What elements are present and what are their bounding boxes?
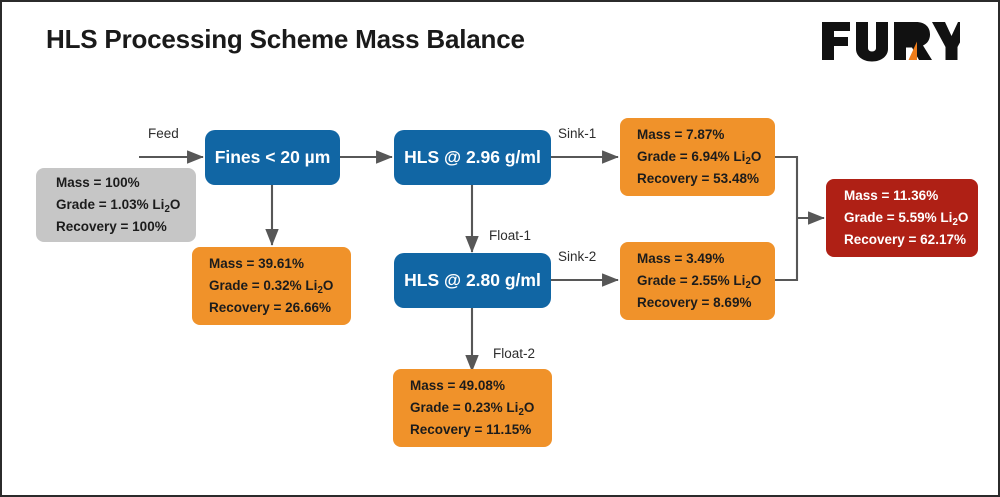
page-title: HLS Processing Scheme Mass Balance: [46, 24, 525, 55]
fines-product-grade-suffix: O: [323, 278, 334, 293]
node-sink-2[interactable]: Mass = 3.49% Grade = 2.55% Li2O Recovery…: [620, 242, 775, 320]
float-2-recovery: Recovery = 11.15%: [410, 419, 552, 441]
feed-mass: Mass = 100%: [56, 172, 196, 194]
label-sink-2: Sink-2: [558, 249, 596, 264]
combined-grade-subscript: 2: [952, 217, 957, 228]
node-fines-screen[interactable]: Fines < 20 µm: [205, 130, 340, 185]
sink-1-grade-text: Grade = 6.94% Li: [637, 149, 745, 164]
fury-logo: [820, 18, 960, 64]
node-feed[interactable]: Mass = 100% Grade = 1.03% Li2O Recovery …: [36, 168, 196, 242]
sink-2-mass: Mass = 3.49%: [637, 248, 775, 270]
sink-1-grade: Grade = 6.94% Li2O: [637, 146, 775, 168]
combined-grade-suffix: O: [958, 210, 969, 225]
float-2-mass: Mass = 49.08%: [410, 375, 552, 397]
sink-1-grade-subscript: 2: [745, 156, 750, 167]
feed-grade-text: Grade = 1.03% Li: [56, 197, 164, 212]
float-2-grade: Grade = 0.23% Li2O: [410, 397, 552, 419]
fines-product-mass: Mass = 39.61%: [209, 253, 351, 275]
sink-2-recovery: Recovery = 8.69%: [637, 292, 775, 314]
float-2-grade-text: Grade = 0.23% Li: [410, 400, 518, 415]
combined-grade: Grade = 5.59% Li2O: [844, 207, 978, 229]
node-float-2[interactable]: Mass = 49.08% Grade = 0.23% Li2O Recover…: [393, 369, 552, 447]
fines-product-grade: Grade = 0.32% Li2O: [209, 275, 351, 297]
hls-296-title: HLS @ 2.96 g/ml: [404, 147, 541, 168]
label-feed: Feed: [148, 126, 179, 141]
sink-1-grade-suffix: O: [751, 149, 762, 164]
sink-1-mass: Mass = 7.87%: [637, 124, 775, 146]
node-sink-1[interactable]: Mass = 7.87% Grade = 6.94% Li2O Recovery…: [620, 118, 775, 196]
sink-2-grade-suffix: O: [751, 273, 762, 288]
diagram-canvas: HLS Processing Scheme Mass Balance: [0, 0, 1000, 497]
sink-2-grade-text: Grade = 2.55% Li: [637, 273, 745, 288]
sink-2-grade: Grade = 2.55% Li2O: [637, 270, 775, 292]
fines-screen-title: Fines < 20 µm: [215, 147, 331, 168]
node-fines-product[interactable]: Mass = 39.61% Grade = 0.32% Li2O Recover…: [192, 247, 351, 325]
node-hls-280[interactable]: HLS @ 2.80 g/ml: [394, 253, 551, 308]
feed-recovery: Recovery = 100%: [56, 216, 196, 238]
label-sink-1: Sink-1: [558, 126, 596, 141]
float-2-grade-suffix: O: [524, 400, 535, 415]
feed-grade-suffix: O: [170, 197, 181, 212]
fines-product-recovery: Recovery = 26.66%: [209, 297, 351, 319]
node-hls-296[interactable]: HLS @ 2.96 g/ml: [394, 130, 551, 185]
feed-grade-subscript: 2: [164, 204, 169, 215]
float-2-grade-subscript: 2: [518, 407, 523, 418]
sink-2-grade-subscript: 2: [745, 280, 750, 291]
fines-product-grade-text: Grade = 0.32% Li: [209, 278, 317, 293]
combined-recovery: Recovery = 62.17%: [844, 229, 978, 251]
label-float-2: Float-2: [493, 346, 535, 361]
label-float-1: Float-1: [489, 228, 531, 243]
fines-product-grade-subscript: 2: [317, 285, 322, 296]
sink-1-recovery: Recovery = 53.48%: [637, 168, 775, 190]
hls-280-title: HLS @ 2.80 g/ml: [404, 270, 541, 291]
combined-grade-text: Grade = 5.59% Li: [844, 210, 952, 225]
node-combined-product[interactable]: Mass = 11.36% Grade = 5.59% Li2O Recover…: [826, 179, 978, 257]
combined-mass: Mass = 11.36%: [844, 185, 978, 207]
feed-grade: Grade = 1.03% Li2O: [56, 194, 196, 216]
